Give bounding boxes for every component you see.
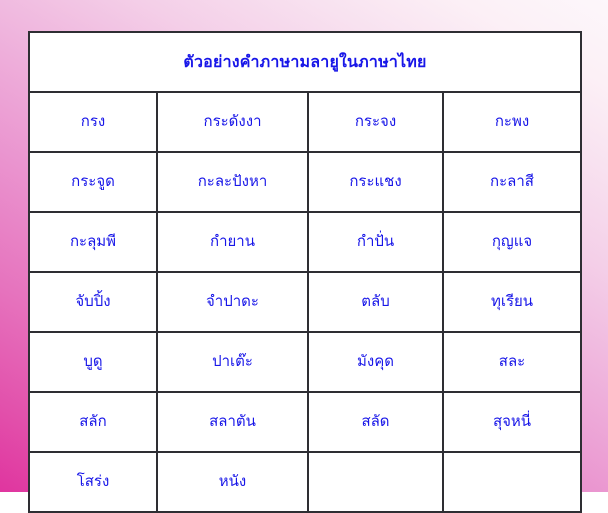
word-cell: กะลาสี bbox=[443, 152, 581, 212]
word-cell-empty bbox=[443, 452, 581, 512]
table-row: โสร่งหนัง bbox=[29, 452, 581, 512]
page-title: ตัวอย่างคำภาษามลายูในภาษาไทย bbox=[29, 32, 581, 92]
word-cell: กระดังงา bbox=[157, 92, 308, 152]
word-cell: สลัด bbox=[308, 392, 443, 452]
word-cell-empty bbox=[308, 452, 443, 512]
table-header: ตัวอย่างคำภาษามลายูในภาษาไทย bbox=[29, 32, 581, 92]
word-cell: โสร่ง bbox=[29, 452, 157, 512]
word-cell: สลัก bbox=[29, 392, 157, 452]
page-background: ตัวอย่างคำภาษามลายูในภาษาไทย กรงกระดังงา… bbox=[0, 0, 608, 492]
word-cell: กำยาน bbox=[157, 212, 308, 272]
table-row: กระจูดกะละปังหากระแชงกะลาสี bbox=[29, 152, 581, 212]
word-cell: สลาตัน bbox=[157, 392, 308, 452]
word-cell: ตลับ bbox=[308, 272, 443, 332]
word-cell: กำปั่น bbox=[308, 212, 443, 272]
word-cell: กุญแจ bbox=[443, 212, 581, 272]
table-row: กรงกระดังงากระจงกะพง bbox=[29, 92, 581, 152]
table-title-row: ตัวอย่างคำภาษามลายูในภาษาไทย bbox=[29, 32, 581, 92]
word-cell: สละ bbox=[443, 332, 581, 392]
word-cell: กะลุมพี bbox=[29, 212, 157, 272]
word-cell: หนัง bbox=[157, 452, 308, 512]
word-cell: ปาเต๊ะ bbox=[157, 332, 308, 392]
table-row: จับปิ้งจำปาดะตลับทุเรียน bbox=[29, 272, 581, 332]
malay-loanwords-table: ตัวอย่างคำภาษามลายูในภาษาไทย กรงกระดังงา… bbox=[28, 31, 582, 513]
word-cell: มังคุด bbox=[308, 332, 443, 392]
word-cell: กะพง bbox=[443, 92, 581, 152]
word-cell: บูดู bbox=[29, 332, 157, 392]
word-cell: จับปิ้ง bbox=[29, 272, 157, 332]
word-cell: จำปาดะ bbox=[157, 272, 308, 332]
word-table-container: ตัวอย่างคำภาษามลายูในภาษาไทย กรงกระดังงา… bbox=[28, 31, 580, 468]
word-cell: สุจหนี่ bbox=[443, 392, 581, 452]
table-row: กะลุมพีกำยานกำปั่นกุญแจ bbox=[29, 212, 581, 272]
table-body: กรงกระดังงากระจงกะพงกระจูดกะละปังหากระแช… bbox=[29, 92, 581, 512]
word-cell: กระจง bbox=[308, 92, 443, 152]
word-cell: ทุเรียน bbox=[443, 272, 581, 332]
word-cell: กะละปังหา bbox=[157, 152, 308, 212]
table-row: บูดูปาเต๊ะมังคุดสละ bbox=[29, 332, 581, 392]
word-cell: กระแชง bbox=[308, 152, 443, 212]
word-cell: กรง bbox=[29, 92, 157, 152]
word-cell: กระจูด bbox=[29, 152, 157, 212]
table-row: สลักสลาตันสลัดสุจหนี่ bbox=[29, 392, 581, 452]
